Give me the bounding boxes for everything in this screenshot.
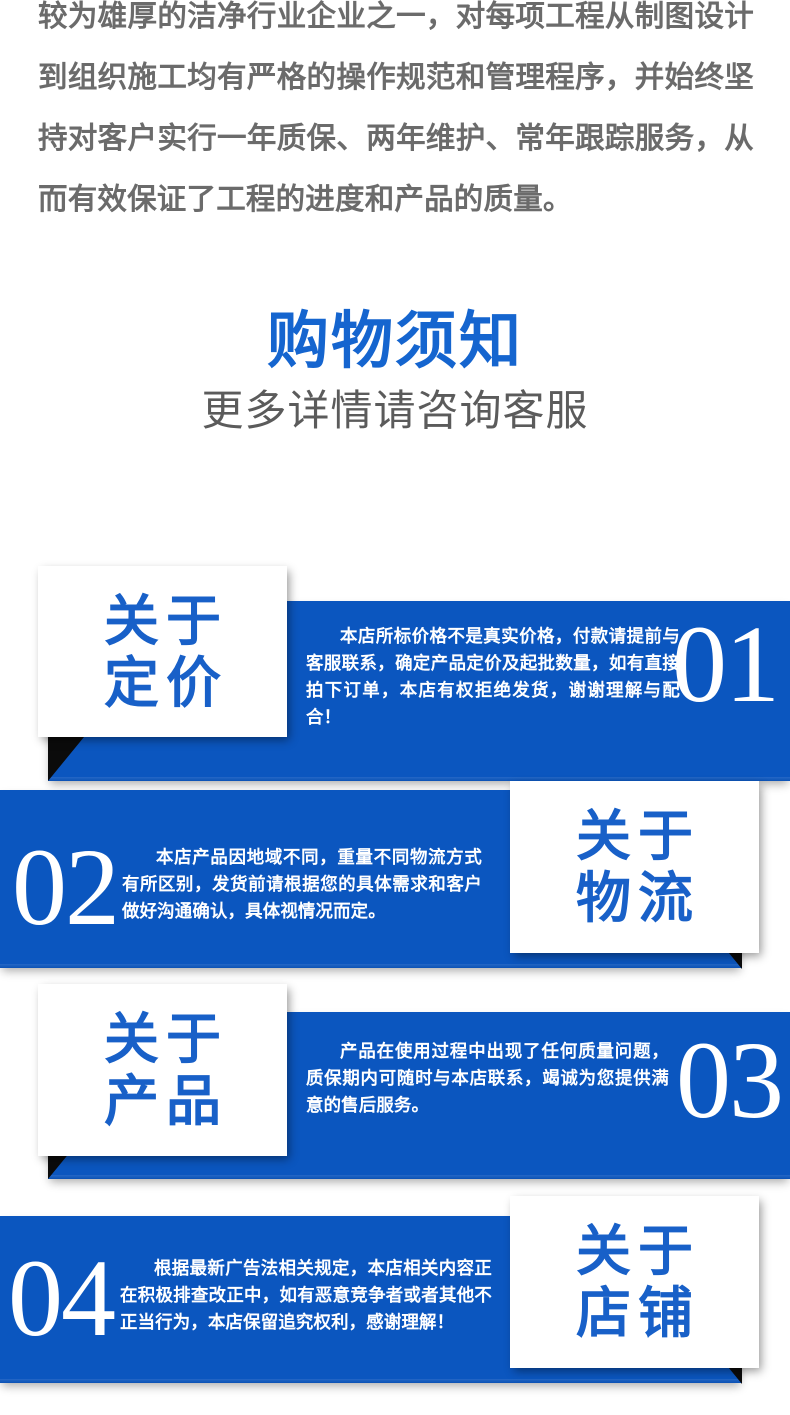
- card-01-label-plate: 关于 定价: [38, 566, 287, 737]
- card-01-number: 01: [672, 609, 778, 719]
- card-04-body-text: 根据最新广告法相关规定，本店相关内容正在积极排查改正中，如有恶意竞争者或者其他不…: [120, 1255, 492, 1336]
- page-subtitle: 更多详情请咨询客服: [0, 384, 790, 438]
- card-03-body-text: 产品在使用过程中出现了任何质量问题，质保期内可随时与本店联系，竭诚为您提供满意的…: [306, 1038, 669, 1119]
- card-03-label-plate: 关于 产品: [38, 984, 287, 1156]
- section-heading: 购物须知 更多详情请咨询客服: [0, 306, 790, 438]
- card-01-body-text: 本店所标价格不是真实价格，付款请提前与客服联系，确定产品定价及起批数量，如有直接…: [306, 623, 680, 731]
- card-03-plate-line-1: 关于: [97, 1008, 228, 1070]
- card-02-plate-line-1: 关于: [569, 805, 700, 867]
- card-01-plate-line-2: 定价: [97, 652, 228, 714]
- card-04-label-plate: 关于 店铺: [510, 1196, 759, 1368]
- card-02-label-plate: 关于 物流: [510, 781, 759, 953]
- card-01-plate-line-1: 关于: [97, 590, 228, 652]
- card-02-plate-line-2: 物流: [569, 867, 700, 929]
- page-title: 购物须知: [0, 306, 790, 378]
- card-04-plate-line-1: 关于: [569, 1220, 700, 1282]
- card-02-body-text: 本店产品因地域不同，重量不同物流方式有所区别，发货前请根据您的具体需求和客户做好…: [122, 844, 482, 925]
- intro-paragraph: 较为雄厚的洁净行业企业之一，对每项工程从制图设计到组织施工均有严格的操作规范和管…: [38, 0, 754, 230]
- card-01-fold-icon: [48, 737, 84, 781]
- card-04-plate-line-2: 店铺: [569, 1282, 700, 1344]
- card-04-number: 04: [8, 1243, 114, 1353]
- card-03-plate-line-2: 产品: [97, 1070, 228, 1132]
- card-03-number: 03: [676, 1025, 782, 1135]
- product-detail-page: 较为雄厚的洁净行业企业之一，对每项工程从制图设计到组织施工均有严格的操作规范和管…: [0, 0, 790, 1415]
- card-02-number: 02: [12, 832, 118, 942]
